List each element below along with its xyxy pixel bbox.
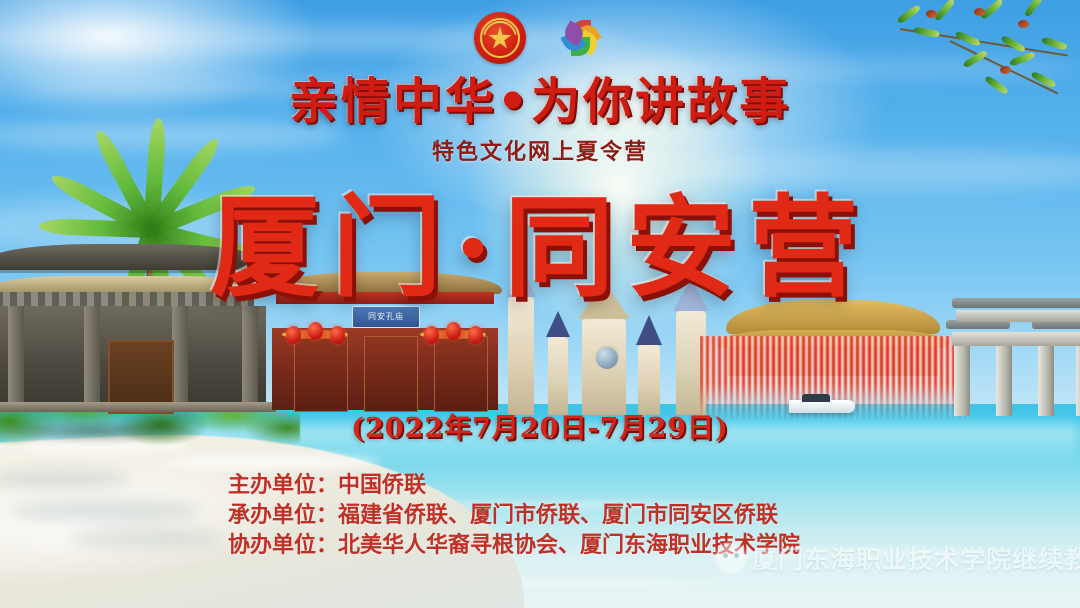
red-lantern <box>330 326 345 344</box>
castle-spire <box>636 315 662 345</box>
paifang-lintel <box>956 310 1080 322</box>
event-dateline: (2022年7月20日-7月29日) <box>0 406 1080 445</box>
temple-column <box>84 306 100 410</box>
china-overseas-chinese-federation-emblem-icon <box>474 12 526 64</box>
credit-line-host: 主办单位：中国侨联 <box>228 470 928 500</box>
watermark-text: 厦门东海职业技术学院继续教育学院 <box>752 540 1080 576</box>
temple-column <box>8 306 24 410</box>
credit-line-organizer: 承办单位：福建省侨联、厦门市侨联、厦门市同安区侨联 <box>228 500 928 530</box>
castle-rose-window <box>594 345 620 371</box>
temple-column <box>242 306 258 410</box>
castle-tower <box>548 337 568 415</box>
event-subheadline: 特色文化网上夏令营 <box>0 134 1080 166</box>
paifang-plaque-band <box>952 332 1080 346</box>
sand-shadow <box>10 500 200 522</box>
temple-column <box>172 306 188 410</box>
red-lantern <box>446 322 461 340</box>
castle-tower <box>638 345 660 415</box>
yacht-cabin <box>802 394 830 402</box>
watermark: 厦门东海职业技术学院继续教育学院 <box>716 540 1080 576</box>
gate-door <box>294 336 348 412</box>
red-lantern <box>424 326 439 344</box>
poster-canvas: 同安孔庙 <box>0 0 1080 608</box>
stone-paifang-archway <box>946 298 1080 416</box>
watermark-logo-icon <box>716 543 746 573</box>
main-title: 厦门·同安营 <box>0 190 1080 306</box>
logo-row <box>0 10 1080 66</box>
red-lantern <box>308 322 323 340</box>
gate-door <box>364 336 418 412</box>
red-lantern <box>468 326 483 344</box>
gate-door <box>434 336 488 412</box>
event-headline: 亲情中华•为你讲故事 <box>0 62 1080 133</box>
sand-shadow <box>70 530 220 546</box>
castle-spire <box>546 311 570 337</box>
rainbow-pinwheel-logo-icon <box>556 14 606 62</box>
red-lantern <box>286 326 301 344</box>
castle-tower <box>508 297 534 415</box>
